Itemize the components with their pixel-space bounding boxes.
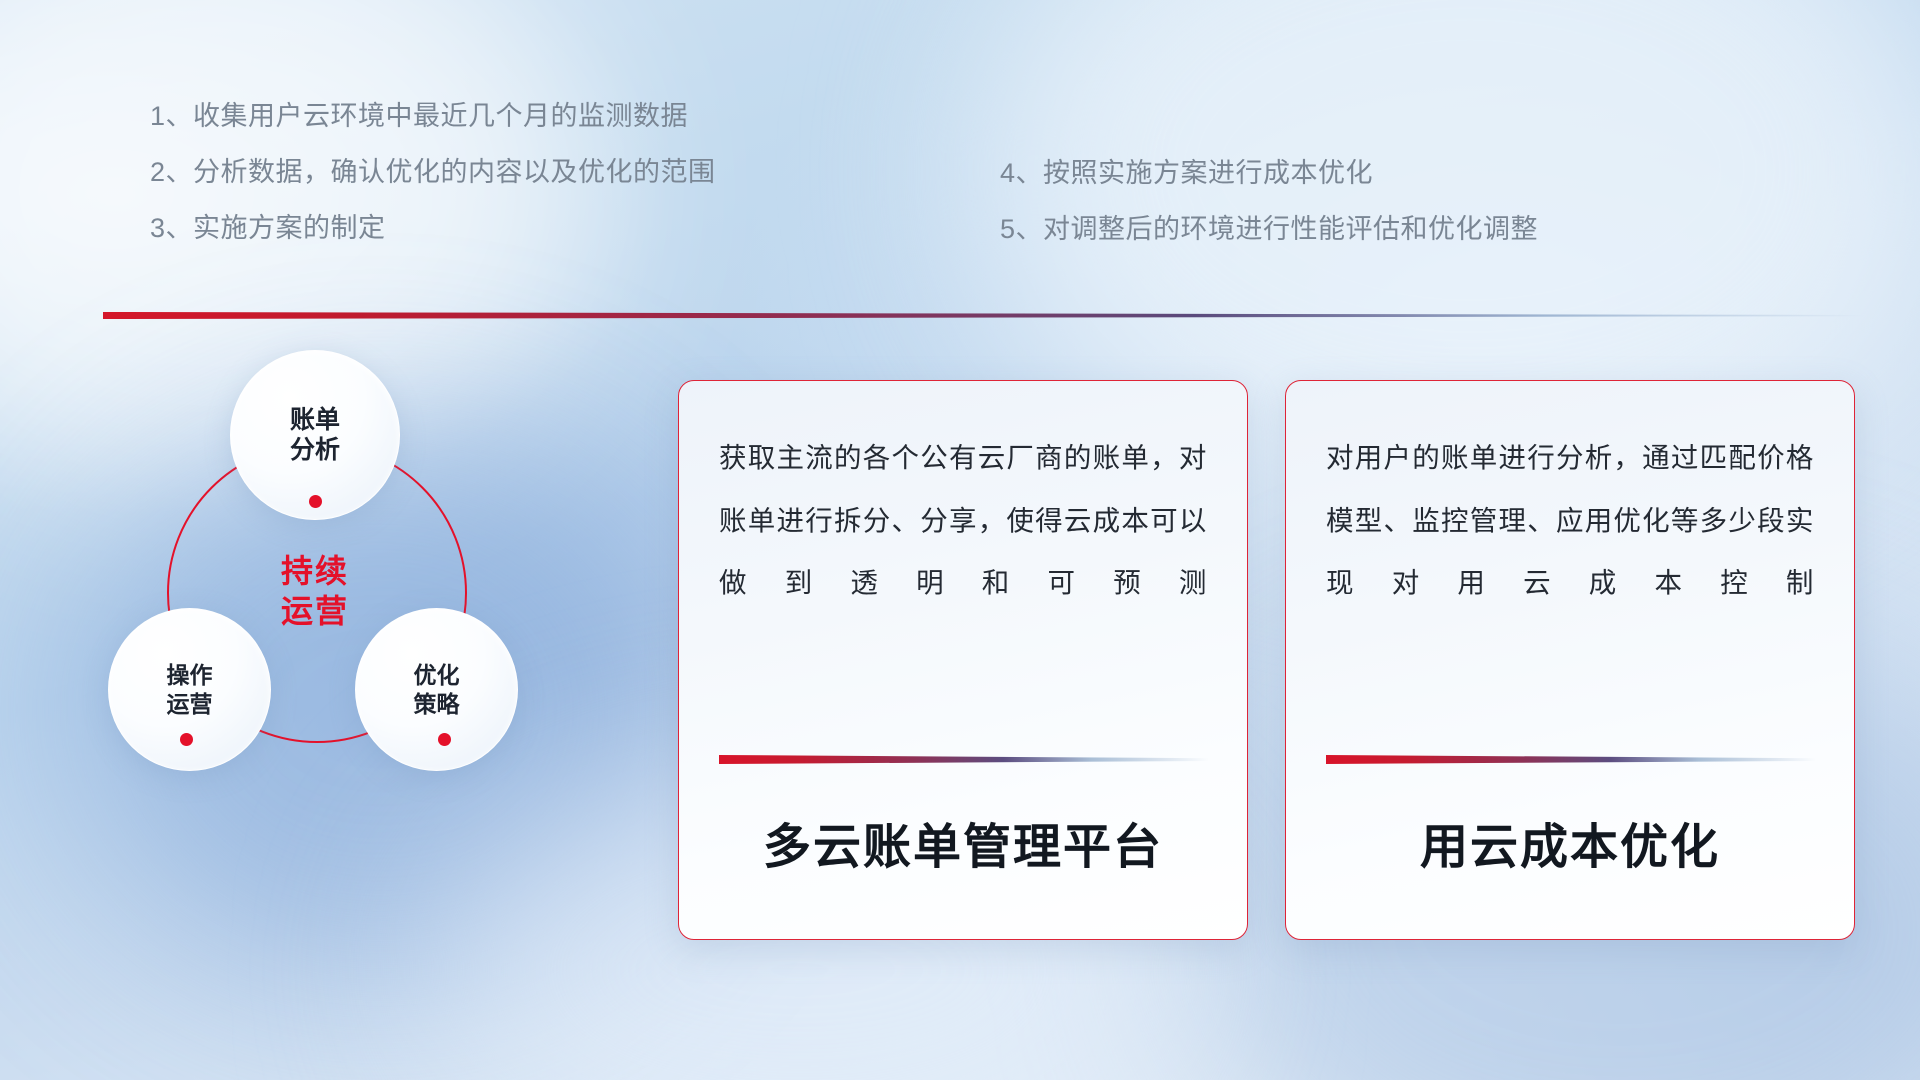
card-multicloud-billing[interactable]: 获取主流的各个公有云厂商的账单，对账单进行拆分、分享，使得云成本可以做到透明和可…	[678, 380, 1248, 940]
circle-operations-line1: 操作	[167, 661, 213, 689]
card-multicloud-billing-title: 多云账单管理平台	[679, 807, 1247, 877]
section-divider	[103, 312, 1863, 319]
bullet-item-2: 2、分析数据，确认优化的内容以及优化的范围	[150, 159, 716, 186]
circle-operations[interactable]: 操作 运营	[108, 608, 271, 771]
bullet-item-4: 4、按照实施方案进行成本优化	[1000, 160, 1538, 187]
circle-bill-analysis-line2: 分析	[290, 435, 340, 466]
bullet-list-right: 4、按照实施方案进行成本优化 5、对调整后的环境进行性能评估和优化调整	[1000, 160, 1538, 243]
card-cloud-cost-optimization[interactable]: 对用户的账单进行分析，通过匹配价格模型、监控管理、应用优化等多少段实现对用云成本…	[1285, 380, 1855, 940]
bullet-item-5: 5、对调整后的环境进行性能评估和优化调整	[1000, 216, 1538, 243]
circle-optimization[interactable]: 优化 策略	[355, 608, 518, 771]
bullet-list-left: 1、收集用户云环境中最近几个月的监测数据 2、分析数据，确认优化的内容以及优化的…	[150, 103, 716, 242]
circle-optimization-line2: 策略	[414, 690, 460, 718]
card-cloud-cost-optimization-body: 对用户的账单进行分析，通过匹配价格模型、监控管理、应用优化等多少段实现对用云成本…	[1326, 427, 1814, 615]
circle-optimization-line1: 优化	[414, 661, 460, 689]
continuous-operation-diagram: 持续 运营 账单 分析 操作 运营 优化 策略	[100, 350, 630, 950]
diagram-node-dot-right	[438, 733, 451, 746]
card-multicloud-billing-body: 获取主流的各个公有云厂商的账单，对账单进行拆分、分享，使得云成本可以做到透明和可…	[719, 427, 1207, 615]
bullet-item-1: 1、收集用户云环境中最近几个月的监测数据	[150, 103, 716, 130]
slide-canvas: 1、收集用户云环境中最近几个月的监测数据 2、分析数据，确认优化的内容以及优化的…	[0, 0, 1920, 1080]
circle-bill-analysis-line1: 账单	[290, 405, 340, 436]
diagram-node-dot-left	[180, 733, 193, 746]
card-cloud-cost-optimization-rule	[1326, 755, 1816, 764]
bullet-item-3: 3、实施方案的制定	[150, 215, 716, 242]
diagram-node-dot-top	[309, 495, 322, 508]
card-multicloud-billing-rule	[719, 755, 1209, 764]
circle-operations-line2: 运营	[167, 690, 213, 718]
card-cloud-cost-optimization-title: 用云成本优化	[1286, 807, 1854, 877]
